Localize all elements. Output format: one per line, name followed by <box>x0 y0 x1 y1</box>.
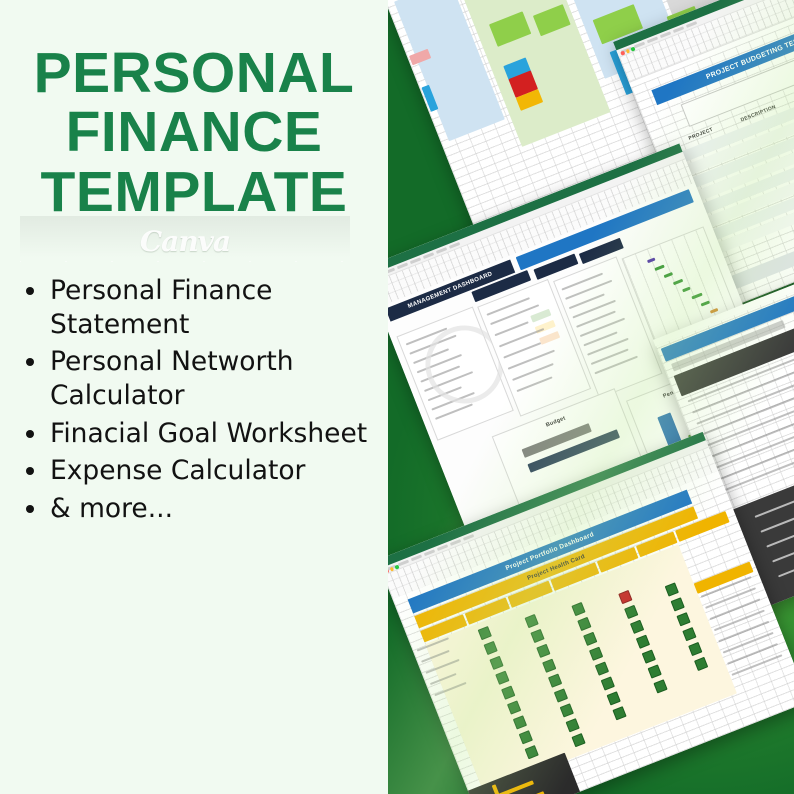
page-title: PERSONAL FINANCE TEMPLATE <box>0 44 388 222</box>
list-item: Personal Networth Calculator <box>14 345 386 412</box>
list-item: Personal Finance Statement <box>14 274 386 341</box>
title-line-1: PERSONAL <box>0 44 388 103</box>
list-item: & more... <box>14 492 386 526</box>
watermark-label: Canva <box>20 225 350 258</box>
screenshot-collage: Security Audit Customer PROJECT BUDGETIN… <box>385 0 794 794</box>
poster-canvas: Security Audit Customer PROJECT BUDGETIN… <box>0 0 794 794</box>
canva-watermark: Canva <box>20 216 350 268</box>
title-line-2: FINANCE <box>0 103 388 162</box>
list-item: Expense Calculator <box>14 454 386 488</box>
dashboard-area[interactable]: Project Portfolio Dashboard Project Heal… <box>392 471 794 794</box>
list-item: Finacial Goal Worksheet <box>14 417 386 451</box>
left-text-panel: PERSONAL FINANCE TEMPLATE Canva Personal… <box>0 0 388 794</box>
title-line-3: TEMPLATE <box>0 163 388 222</box>
feature-list: Personal Finance Statement Personal Netw… <box>14 274 386 529</box>
